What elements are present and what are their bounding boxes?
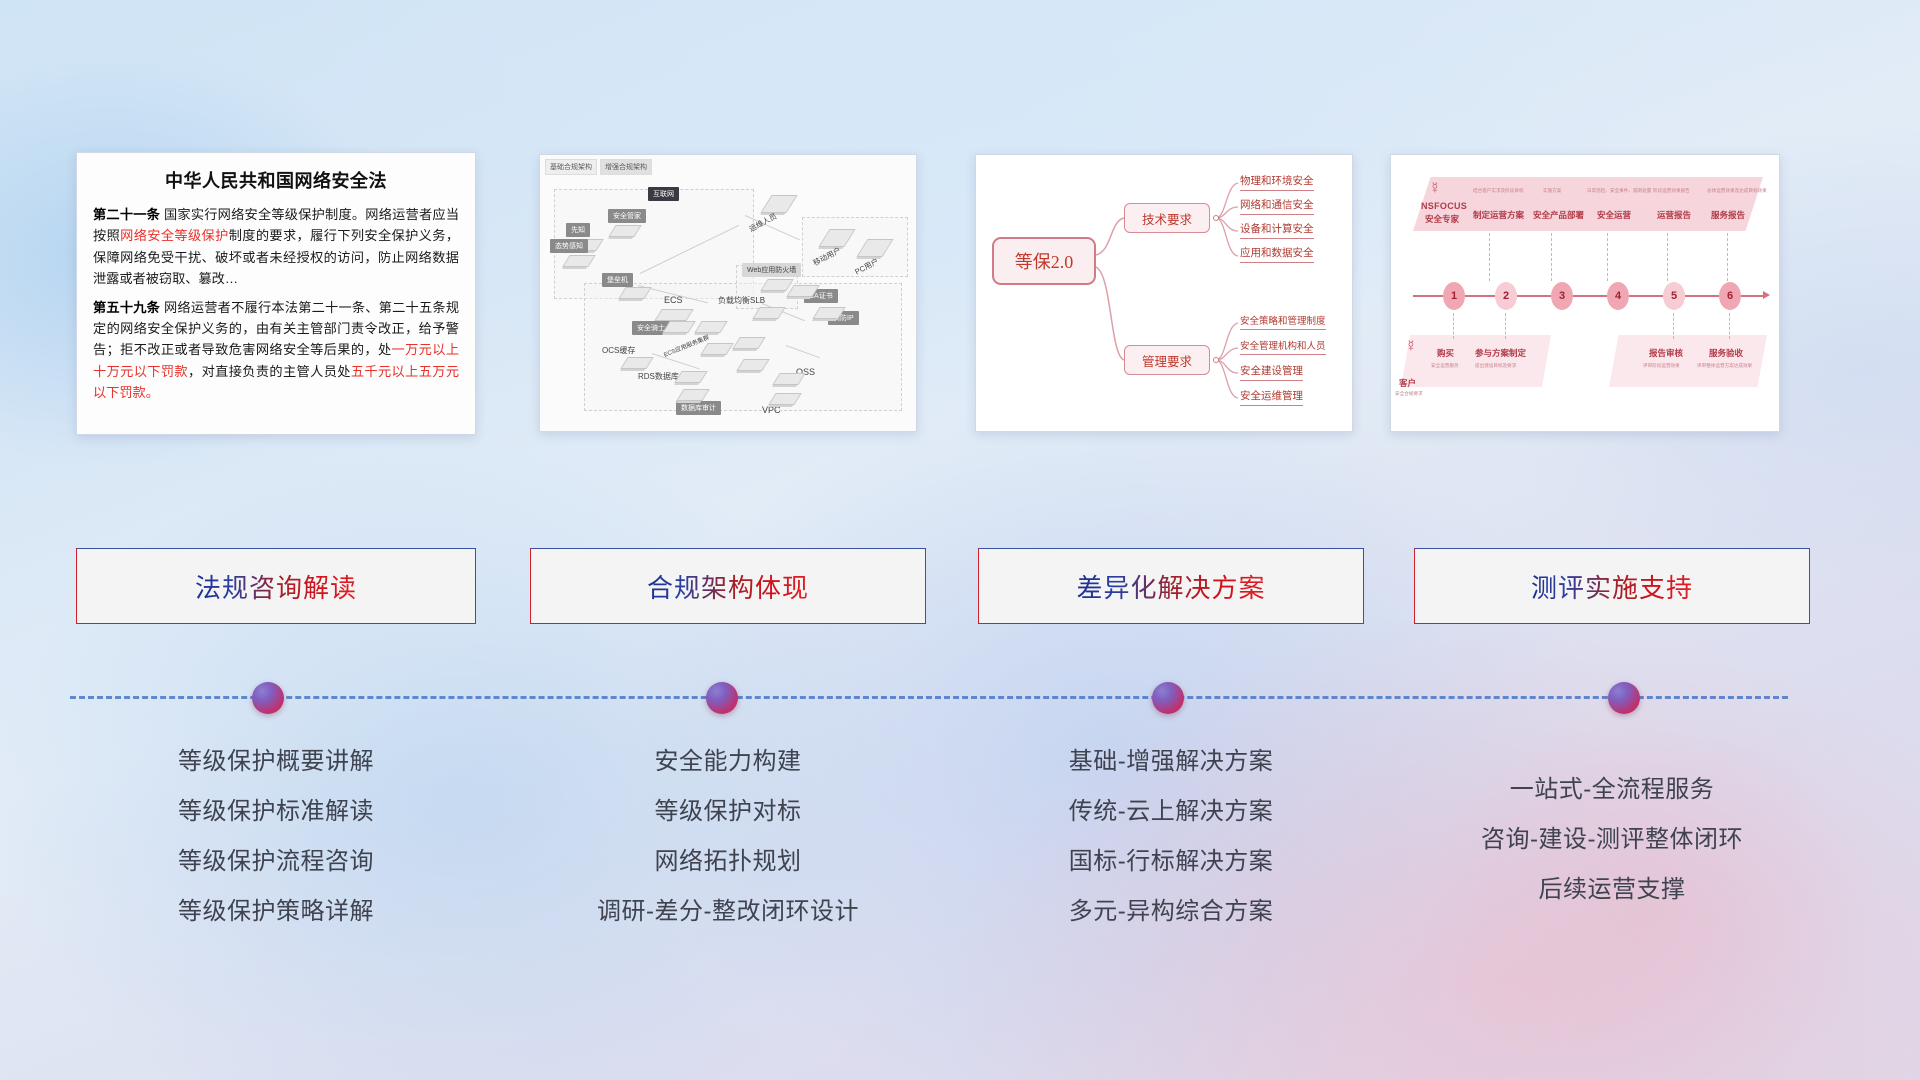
timeline-dash-8 [1673, 313, 1674, 339]
timeline-bottom-sub-1: 安全运营服务 [1431, 363, 1459, 369]
timeline-node-4[interactable]: 4 [1607, 282, 1629, 310]
feature-list-4: 一站式-全流程服务 咨询-建设-测评整体闭环 后续运营支撑 [1414, 778, 1810, 928]
article-21-label: 第二十一条 [93, 207, 160, 222]
mindmap-leaf-policy-system: 安全策略和管理制度 [1240, 313, 1326, 330]
customer-avatar-icon: ☿ [1405, 339, 1417, 355]
timeline-node-3[interactable]: 3 [1551, 282, 1573, 310]
timeline-top-sub-1: 结合客户实求及阶段目标 [1473, 188, 1524, 194]
arch-node-db-audit: 数据库审计 [676, 401, 721, 415]
timeline-node-6[interactable]: 6 [1719, 282, 1741, 310]
timeline-bottom-title-4: 服务验收 [1709, 347, 1743, 359]
title-label-4: 测评实施支持 [1531, 568, 1693, 605]
card-service-timeline[interactable]: ☿ NSFOCUS 安全专家 结合客户实求及阶段目标 制定运营方案 实施方案 安… [1390, 154, 1780, 432]
article-59-text-2: ，对直接负责的主管人员处 [188, 364, 351, 379]
timeline-customer-label: 客户 [1399, 377, 1416, 389]
reference-cards-row: 中华人民共和国网络安全法 第二十一条 国家实行网络安全等级保护制度。网络运营者应… [0, 152, 1920, 452]
mindmap: 等保2.0 技术要求 物理和环境安全 网络和通信安全 设备和计算安全 应用和数据… [976, 155, 1352, 431]
timeline-top-sub-3: 日常巡检、安全事件、漏洞处置 [1587, 188, 1651, 194]
timeline-bottom-title-3: 报告审核 [1649, 347, 1683, 359]
arch-node-slb: 负载均衡SLB [718, 295, 765, 306]
law-article-21: 第二十一条 国家实行网络安全等级保护制度。网络运营者应当按照网络安全等级保护制度… [93, 204, 459, 290]
timeline-dash-5 [1727, 233, 1728, 281]
mindmap-branch-management: 管理要求 [1124, 345, 1210, 375]
card-compliance-architecture[interactable]: 基础合规架构 增强合规架构 互联网 安全管家 先知 态势感知 堡 [539, 154, 917, 432]
service-timeline: ☿ NSFOCUS 安全专家 结合客户实求及阶段目标 制定运营方案 实施方案 安… [1391, 155, 1779, 431]
section-title-boxes: 法规咨询解读 合规架构体现 差异化解决方案 测评实施支持 [0, 548, 1920, 624]
connector-dot-1 [252, 682, 284, 714]
timeline-dash-2 [1551, 233, 1552, 281]
list-item: 基础-增强解决方案 [978, 750, 1364, 774]
timeline-bottom-sub-3: 评审阶段运营效果 [1643, 363, 1680, 369]
timeline-top-sub-4: 阶段运营效果报告 [1653, 188, 1690, 194]
connector-dot-4 [1608, 682, 1640, 714]
arch-node-internet: 互联网 [648, 187, 679, 201]
timeline-bottom-sub-4: 评审整体运营方案达成效果 [1697, 363, 1752, 369]
arch-node-security-steward: 安全管家 [608, 209, 646, 223]
feature-list-2: 安全能力构建 等级保护对标 网络拓扑规划 调研-差分-整改闭环设计 [530, 750, 926, 950]
list-item: 咨询-建设-测评整体闭环 [1414, 828, 1810, 852]
timeline-band-bottom-left [1401, 335, 1551, 387]
mindmap-root: 等保2.0 [992, 237, 1096, 285]
mindmap-collapse-dot-management[interactable] [1213, 357, 1219, 363]
timeline-top-title-1: 制定运营方案 [1473, 209, 1524, 221]
list-item: 安全能力构建 [530, 750, 926, 774]
law-document: 中华人民共和国网络安全法 第二十一条 国家实行网络安全等级保护制度。网络运营者应… [77, 153, 475, 420]
timeline-expert-sub: 安全专家 [1425, 213, 1459, 225]
article-59-label: 第五十九条 [93, 300, 160, 315]
mindmap-leaf-org-personnel: 安全管理机构和人员 [1240, 338, 1326, 355]
timeline-customer-sub: 安全合规要求 [1395, 391, 1423, 397]
arch-node-vpc: VPC [762, 405, 781, 415]
timeline-arrow-icon [1763, 291, 1770, 299]
list-item: 国标-行标解决方案 [978, 850, 1364, 874]
timeline-bottom-title-1: 购买 [1437, 347, 1454, 359]
law-title: 中华人民共和国网络安全法 [93, 167, 459, 193]
feature-list-3: 基础-增强解决方案 传统-云上解决方案 国标-行标解决方案 多元-异构综合方案 [978, 750, 1364, 950]
tab-enhanced-architecture[interactable]: 增强合规架构 [600, 159, 652, 175]
timeline-dash-4 [1667, 233, 1668, 281]
title-box-compliance-architecture[interactable]: 合规架构体现 [530, 548, 926, 624]
connector-dot-2 [706, 682, 738, 714]
card-mindmap-dengbao[interactable]: 等保2.0 技术要求 物理和环境安全 网络和通信安全 设备和计算安全 应用和数据… [975, 154, 1353, 432]
timeline-bottom-title-2: 参与方案制定 [1475, 347, 1526, 359]
arch-icon-ops-person [760, 195, 797, 213]
mindmap-branch-technical: 技术要求 [1124, 203, 1210, 233]
mindmap-leaf-ops-mgmt: 安全运维管理 [1240, 388, 1303, 406]
timeline-bottom-sub-2: 提出建设目标及要求 [1475, 363, 1516, 369]
list-item: 多元-异构综合方案 [978, 900, 1364, 924]
timeline-dash-7 [1505, 313, 1506, 339]
feature-list-1: 等级保护概要讲解 等级保护标准解读 等级保护流程咨询 等级保护策略详解 [76, 750, 476, 950]
arch-node-bastion: 堡垒机 [602, 273, 633, 287]
tab-basic-architecture[interactable]: 基础合规架构 [545, 159, 597, 175]
list-item: 调研-差分-整改闭环设计 [530, 900, 926, 924]
title-label-3: 差异化解决方案 [1076, 568, 1265, 605]
timeline-top-sub-2: 实施方案 [1543, 188, 1561, 194]
title-box-differentiated-solution[interactable]: 差异化解决方案 [978, 548, 1364, 624]
mindmap-leaf-app-data: 应用和数据安全 [1240, 245, 1314, 263]
timeline-top-title-4: 运营报告 [1657, 209, 1691, 221]
feature-lists-row: 等级保护概要讲解 等级保护标准解读 等级保护流程咨询 等级保护策略详解 安全能力… [0, 740, 1920, 1040]
mindmap-collapse-dot-technical[interactable] [1213, 215, 1219, 221]
timeline-node-5[interactable]: 5 [1663, 282, 1685, 310]
mindmap-leaf-device-compute: 设备和计算安全 [1240, 221, 1314, 239]
list-item: 等级保护对标 [530, 800, 926, 824]
arch-node-ecs: ECS [664, 295, 683, 305]
arch-node-xianzhi: 先知 [566, 223, 590, 237]
arch-node-rds: RDS数据库 [638, 371, 679, 382]
arch-node-waf: Web应用防火墙 [742, 263, 801, 277]
arch-node-situational: 态势感知 [550, 239, 588, 253]
mindmap-leaf-physical-env: 物理和环境安全 [1240, 173, 1314, 191]
timeline-axis [1413, 295, 1765, 297]
list-item: 网络拓扑规划 [530, 850, 926, 874]
timeline-band-bottom-right [1609, 335, 1767, 387]
law-article-59: 第五十九条 网络运营者不履行本法第二十一条、第二十五条规定的网络安全保护义务的，… [93, 297, 459, 404]
timeline-expert-label: NSFOCUS [1421, 201, 1467, 211]
timeline-node-1[interactable]: 1 [1443, 282, 1465, 310]
timeline-dash-6 [1453, 313, 1454, 339]
mindmap-leaf-network-comm: 网络和通信安全 [1240, 197, 1314, 215]
list-item: 传统-云上解决方案 [978, 800, 1364, 824]
list-item: 等级保护策略详解 [76, 900, 476, 924]
title-label-1: 法规咨询解读 [195, 568, 357, 605]
list-item: 等级保护流程咨询 [76, 850, 476, 874]
timeline-top-title-2: 安全产品部署 [1533, 209, 1584, 221]
title-box-regulation-consulting[interactable]: 法规咨询解读 [76, 548, 476, 624]
timeline-dashed-connector [70, 696, 1788, 699]
timeline-dash-1 [1489, 233, 1490, 281]
arch-node-ocs: OCS缓存 [602, 345, 635, 356]
article-21-highlight: 网络安全等级保护 [120, 228, 229, 243]
list-item: 等级保护标准解读 [76, 800, 476, 824]
title-label-2: 合规架构体现 [647, 568, 809, 605]
timeline-dash-3 [1607, 233, 1608, 281]
architecture-diagram: 基础合规架构 增强合规架构 互联网 安全管家 先知 态势感知 堡 [540, 155, 916, 431]
timeline-dash-9 [1729, 313, 1730, 339]
title-box-assessment-support[interactable]: 测评实施支持 [1414, 548, 1810, 624]
card-cybersecurity-law[interactable]: 中华人民共和国网络安全法 第二十一条 国家实行网络安全等级保护制度。网络运营者应… [76, 152, 476, 435]
list-item: 等级保护概要讲解 [76, 750, 476, 774]
list-item: 一站式-全流程服务 [1414, 778, 1810, 802]
architecture-tabs[interactable]: 基础合规架构 增强合规架构 [545, 159, 652, 175]
timeline-top-sub-5: 总体运营效果及达成目标效果 [1707, 188, 1767, 194]
mindmap-leaf-construction-mgmt: 安全建设管理 [1240, 363, 1303, 381]
timeline-top-title-5: 服务报告 [1711, 209, 1745, 221]
connector-dot-3 [1152, 682, 1184, 714]
timeline-node-2[interactable]: 2 [1495, 282, 1517, 310]
expert-avatar-icon: ☿ [1429, 181, 1441, 197]
timeline-top-title-3: 安全运营 [1597, 209, 1631, 221]
list-item: 后续运营支撑 [1414, 878, 1810, 902]
